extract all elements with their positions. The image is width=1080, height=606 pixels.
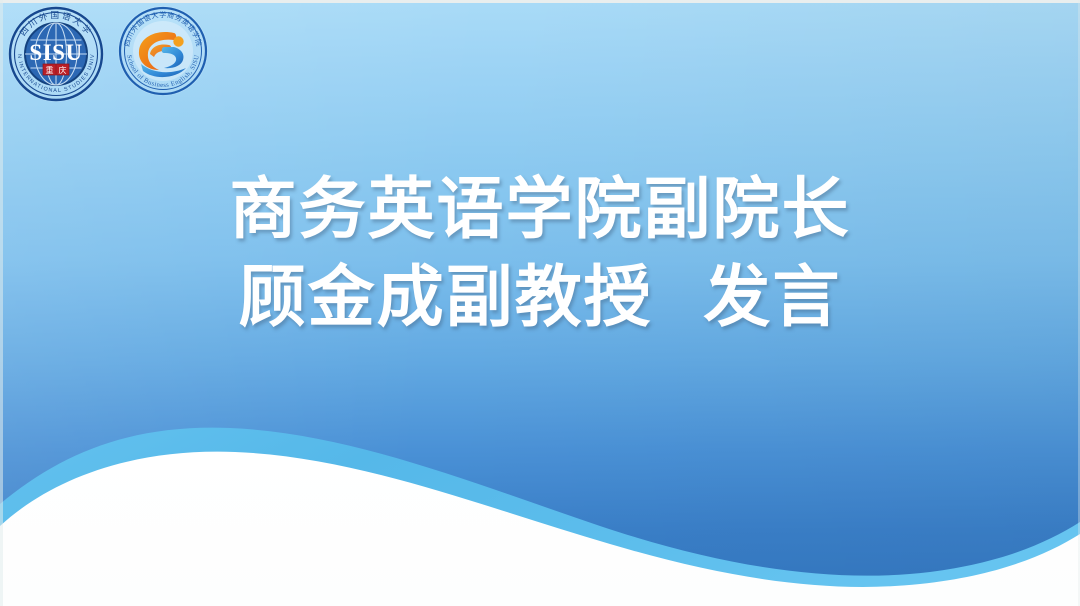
logo-group: SISU 重 庆 SICHUAN INTERNATIONAL STUDIES U… [4, 2, 212, 106]
accent-dot-icon [173, 36, 183, 46]
wave-decoration [0, 376, 1080, 606]
svg-text:庆: 庆 [59, 65, 67, 75]
slide-edge-left [0, 0, 3, 606]
slide-title-line-1: 商务英语学院副院长 [0, 176, 1080, 243]
sisu-university-seal-logo: SISU 重 庆 SICHUAN INTERNATIONAL STUDIES U… [4, 2, 108, 106]
chongqing-plaque: 重 庆 [43, 64, 69, 75]
slide-title-block: 商务英语学院副院长 顾金成副教授 发言 [0, 176, 1080, 331]
svg-text:重: 重 [46, 65, 54, 75]
school-of-business-english-seal-logo: 四川外国语大学商务英语学院 School of Business English… [114, 2, 212, 100]
presentation-slide: SISU 重 庆 SICHUAN INTERNATIONAL STUDIES U… [0, 0, 1080, 606]
sisu-monogram: SISU [29, 40, 82, 65]
svg-text:SISU: SISU [29, 40, 82, 65]
slide-edge-top [0, 0, 1080, 3]
slide-title-line-2: 顾金成副教授 发言 [0, 264, 1080, 331]
